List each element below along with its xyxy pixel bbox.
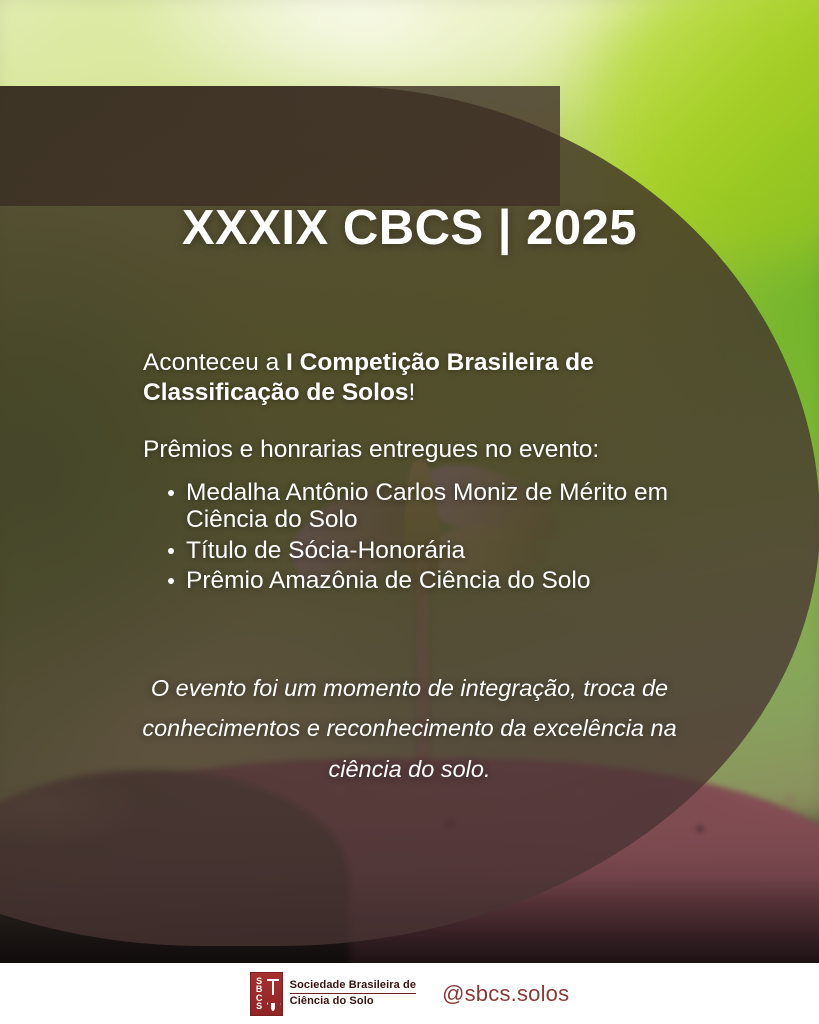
org-name-line1: Sociedade Brasileira de (290, 979, 416, 994)
sbcs-brand[interactable]: S B C S Sociedade Brasileira de Ciência … (250, 972, 416, 1016)
lead-prefix: Aconteceu a (143, 349, 286, 376)
social-handle[interactable]: @sbcs.solos (442, 981, 569, 1007)
poster-canvas: XXXIX CBCS | 2025 Aconteceu a I Competiç… (0, 0, 819, 1024)
soil-auger-icon (266, 977, 281, 1011)
awards-list: Medalha Antônio Carlos Moniz de Mérito e… (143, 479, 688, 595)
body-copy: Aconteceu a I Competição Brasileira de C… (143, 348, 688, 597)
sbcs-logo-letters: S B C S (253, 977, 266, 1010)
list-item: Medalha Antônio Carlos Moniz de Mérito e… (168, 479, 688, 534)
page-title: XXXIX CBCS | 2025 (0, 200, 819, 256)
lead-paragraph: Aconteceu a I Competição Brasileira de C… (143, 348, 688, 408)
auger-tip (271, 1003, 275, 1011)
org-name-line2: Ciência do Solo (290, 994, 416, 1008)
sbcs-logo-icon: S B C S (250, 972, 283, 1016)
logo-letter: S (253, 1002, 266, 1010)
poster-content: XXXIX CBCS | 2025 Aconteceu a I Competiç… (0, 0, 819, 1024)
sbcs-logo-wordmark: Sociedade Brasileira de Ciência do Solo (290, 979, 416, 1008)
lead-suffix: ! (409, 379, 416, 406)
closing-quote: O evento foi um momento de integração, t… (0, 668, 819, 789)
list-item: Prêmio Amazônia de Ciência do Solo (168, 567, 688, 594)
list-item: Título de Sócia-Honorária (168, 537, 688, 564)
awards-subheading: Prêmios e honrarias entregues no evento: (143, 435, 688, 465)
footer-bar: S B C S Sociedade Brasileira de Ciência … (0, 963, 819, 1024)
